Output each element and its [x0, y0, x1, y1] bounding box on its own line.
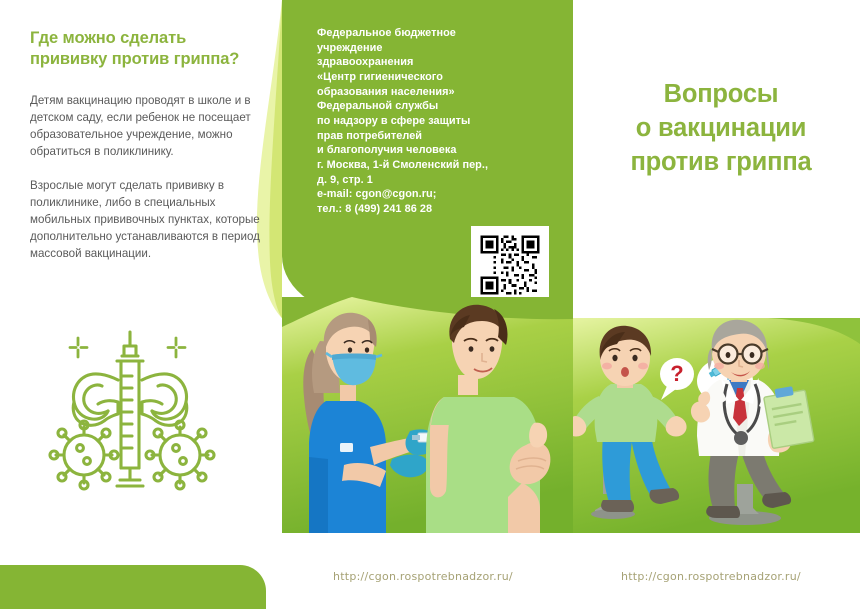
page-title: Вопросы о вакцинации против гриппа	[585, 78, 857, 180]
address-line: Федеральной службы	[317, 99, 543, 114]
address-line: e-mail: cgon@cgon.ru;	[317, 187, 543, 202]
bottom-green-bar	[0, 565, 266, 609]
qr-code-icon[interactable]	[471, 226, 549, 304]
address-line: Федеральное бюджетное	[317, 26, 543, 41]
footer-url-right[interactable]: http://cgon.rospotrebnadzor.ru/	[621, 570, 801, 583]
doctor-explaining-to-patient-illustration: ?	[573, 318, 860, 533]
left-paragraph-1: Детям вакцинацию проводят в школе и в де…	[30, 92, 262, 160]
syringe-muscle-virus-icon	[42, 328, 242, 493]
address-line: по надзору в сфере защиты	[317, 114, 543, 129]
left-heading: Где можно сделать прививку против гриппа…	[30, 28, 245, 70]
address-line: и благополучия человека	[317, 143, 543, 158]
address-line: здравоохранения	[317, 55, 543, 70]
address-line: тел.: 8 (499) 241 86 28	[317, 202, 543, 217]
address-line: учреждение	[317, 41, 543, 56]
organization-address: Федеральное бюджетное учреждение здравоо…	[317, 26, 543, 217]
brochure-page: Где можно сделать прививку против гриппа…	[0, 0, 860, 609]
title-line: Вопросы	[585, 78, 857, 112]
nurse-vaccinating-man-illustration	[282, 297, 573, 533]
address-line: г. Москва, 1-й Смоленский пер.,	[317, 158, 543, 173]
address-line: прав потребителей	[317, 129, 543, 144]
left-column: Где можно сделать прививку против гриппа…	[0, 0, 266, 609]
title-line: против гриппа	[585, 146, 857, 180]
address-line: образования населения»	[317, 85, 543, 100]
svg-text:?: ?	[670, 361, 683, 386]
left-paragraph-2: Взрослые могут сделать прививку в поликл…	[30, 177, 262, 262]
address-line: «Центр гигиенического	[317, 70, 543, 85]
footer-url-center[interactable]: http://cgon.rospotrebnadzor.ru/	[333, 570, 513, 583]
address-line: д. 9, стр. 1	[317, 173, 543, 188]
title-line: о вакцинации	[585, 112, 857, 146]
